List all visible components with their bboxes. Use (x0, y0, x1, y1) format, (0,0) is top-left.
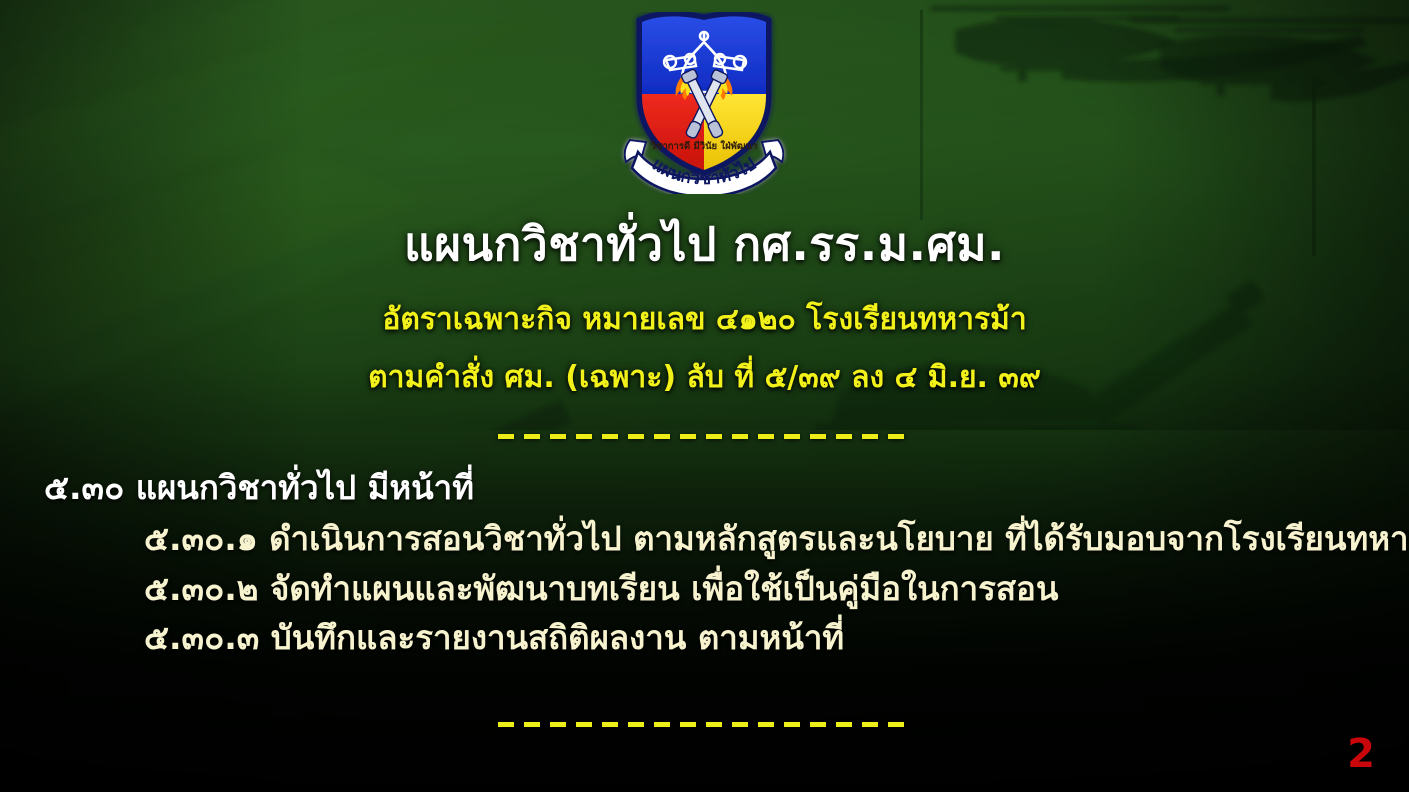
body-content: ๕.๓๐ แผนกวิชาทั่วไป มีหน้าที่ ๕.๓๐.๑ ดำเ… (44, 468, 1369, 667)
subtitle-line-1: อัตราเฉพาะกิจ หมายเลข ๔๑๒๐ โรงเรียนทหารม… (0, 303, 1409, 338)
body-item-1: ๕.๓๐.๑ ดำเนินการสอนวิชาทั่วไป ตามหลักสูต… (44, 519, 1369, 559)
page-title: แผนกวิชาทั่วไป กศ.รร.ม.ศม. (0, 219, 1409, 270)
emblem-motto-text: วิชาการดี มีวินัย ใฝ่พัฒนา (650, 140, 757, 152)
body-lead-line: ๕.๓๐ แผนกวิชาทั่วไป มีหน้าที่ (44, 468, 1369, 508)
body-item-3: ๕.๓๐.๓ บันทึกและรายงานสถิติผลงาน ตามหน้า… (44, 618, 1369, 658)
divider-bottom (0, 720, 1409, 728)
subtitle-line-2: ตามคำสั่ง ศม. (เฉพาะ) ลับ ที่ ๕/๓๙ ลง ๔ … (0, 361, 1409, 396)
cavalry-school-shield-emblem: วิชาการดี มีวินัย ใฝ่พัฒนา แผนกวิชาทั่วไ… (604, 12, 804, 194)
slide-canvas: วิชาการดี มีวินัย ใฝ่พัฒนา แผนกวิชาทั่วไ… (0, 0, 1409, 792)
divider-top (0, 432, 1409, 440)
dashed-rule (498, 434, 912, 439)
dashed-rule (498, 722, 912, 727)
page-number: 2 (1347, 734, 1375, 774)
body-item-2: ๕.๓๐.๒ จัดทำแผนและพัฒนาบทเรียน เพื่อใช้เ… (44, 569, 1369, 609)
